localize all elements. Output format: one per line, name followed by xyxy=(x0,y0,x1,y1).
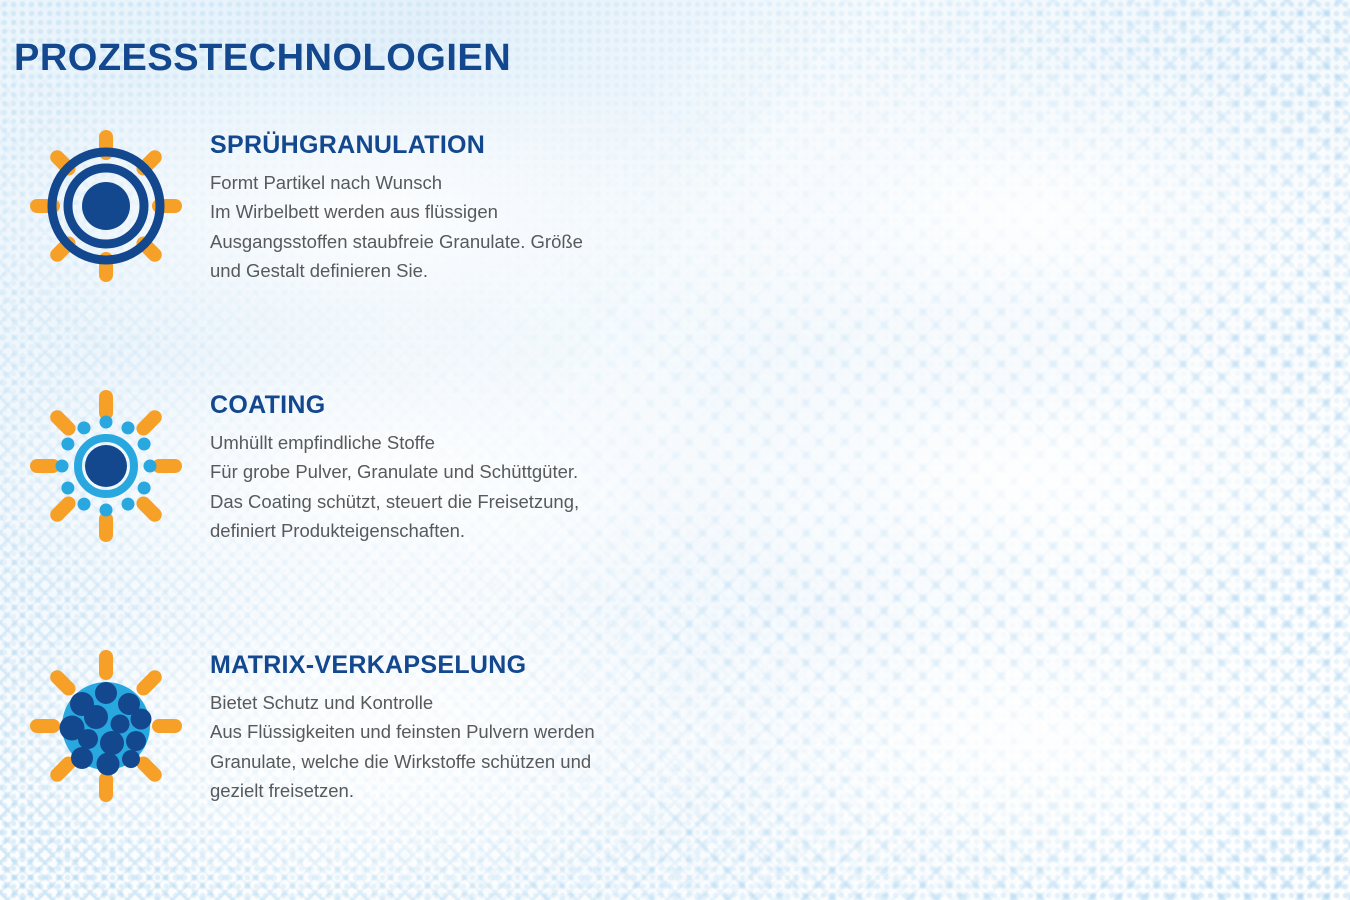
card-body-line: und Gestalt definieren Sie. xyxy=(210,256,583,286)
technology-card: COATING Umhüllt empfindliche Stoffe Für … xyxy=(0,378,690,638)
card-body-line: Aus Flüssigkeiten und feinsten Pulvern w… xyxy=(210,717,595,747)
card-body-line: gezielt freisetzen. xyxy=(210,776,595,806)
page-title: PROZESSTECHNOLOGIEN xyxy=(14,39,511,77)
technology-grid: SPRÜHGRANULATION Formt Partikel nach Wun… xyxy=(0,118,1350,898)
card-body: Für grobe Pulver, Granulate und Schüttgü… xyxy=(210,457,579,546)
card-body: Aus Flüssigkeiten und feinsten Pulvern w… xyxy=(210,717,595,806)
matrix-capsule-icon xyxy=(26,646,186,806)
card-text: MATRIX-VERKAPSELUNG Bietet Schutz und Ko… xyxy=(210,638,595,806)
card-body-line: Für grobe Pulver, Granulate und Schüttgü… xyxy=(210,457,579,487)
card-lead: Umhüllt empfindliche Stoffe xyxy=(210,428,579,458)
card-title: COATING xyxy=(210,392,579,420)
card-body: Im Wirbelbett werden aus flüssigen Ausga… xyxy=(210,197,583,286)
technology-card: SPRÜHAGGLOMERATION Lässt Pulver frei fli… xyxy=(690,378,1350,638)
card-body-line: Granulate, welche die Wirkstoffe schütze… xyxy=(210,747,595,777)
card-body-line: Im Wirbelbett werden aus flüssigen xyxy=(210,197,583,227)
card-title: SPRÜHGRANULATION xyxy=(210,132,583,160)
card-body-line: Das Coating schützt, steuert die Freiset… xyxy=(210,487,579,517)
card-lead: Bietet Schutz und Kontrolle xyxy=(210,688,595,718)
technology-card: WIRBELBETT-TROCKNUNG Trocknet schonend u… xyxy=(690,638,1350,898)
card-lead: Formt Partikel nach Wunsch xyxy=(210,168,583,198)
technology-card: SPRÜHTROCKNUNG Erhitzt kurz und effizien… xyxy=(690,118,1350,378)
concentric-rings-icon xyxy=(26,126,186,286)
card-text: SPRÜHGRANULATION Formt Partikel nach Wun… xyxy=(210,118,583,286)
card-body-line: definiert Produkteigenschaften. xyxy=(210,516,579,546)
card-title: MATRIX-VERKAPSELUNG xyxy=(210,652,595,680)
infographic-poster: PROZESSTECHNOLOGIEN xyxy=(0,0,1350,900)
card-text: COATING Umhüllt empfindliche Stoffe Für … xyxy=(210,378,579,546)
technology-card: MATRIX-VERKAPSELUNG Bietet Schutz und Ko… xyxy=(0,638,690,898)
poster-content: PROZESSTECHNOLOGIEN xyxy=(0,0,1350,900)
technology-card: SPRÜHGRANULATION Formt Partikel nach Wun… xyxy=(0,118,690,378)
coated-core-icon xyxy=(26,386,186,546)
card-body-line: Ausgangsstoffen staubfreie Granulate. Gr… xyxy=(210,227,583,257)
